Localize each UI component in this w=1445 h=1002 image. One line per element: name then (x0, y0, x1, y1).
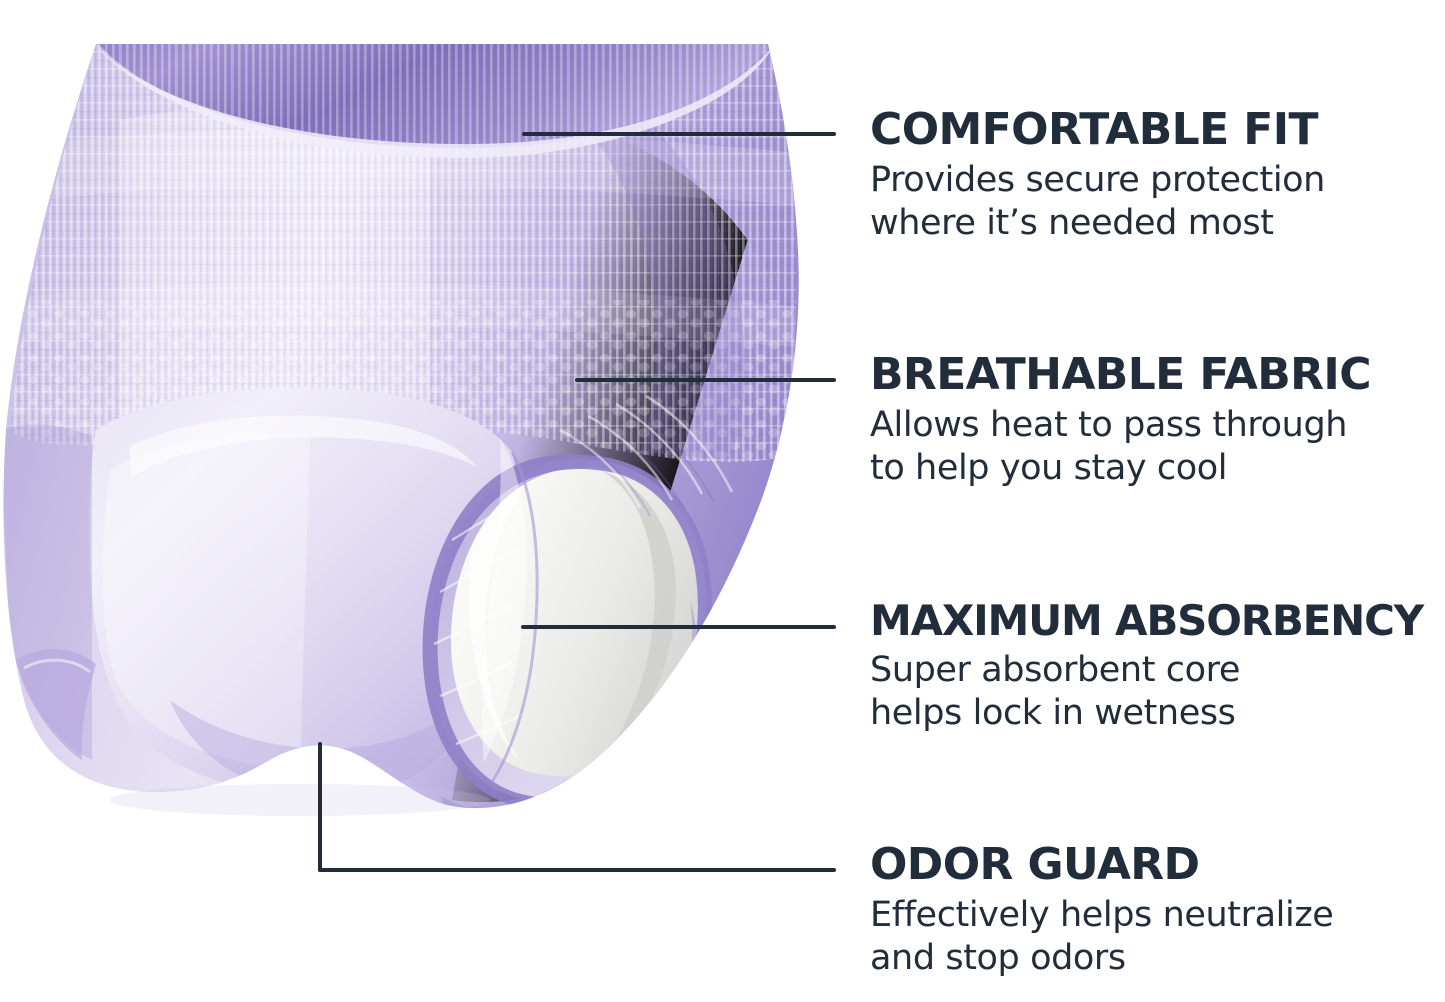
leader-line-odor-guard-vertical (318, 742, 322, 872)
callout-heading-maximum-absorbency: MAXIMUM ABSORBENCY (870, 599, 1445, 643)
callout-heading-breathable-fabric: BREATHABLE FABRIC (870, 352, 1445, 398)
callout-body-line1: Allows heat to pass through (870, 405, 1347, 445)
callout-odor-guard: ODOR GUARD Effectively helps neutralize … (870, 842, 1445, 981)
callout-body-line2: helps lock in wetness (870, 693, 1236, 733)
callout-body-breathable-fabric: Allows heat to pass through to help you … (870, 404, 1445, 491)
callout-body-line1: Super absorbent core (870, 650, 1240, 690)
callout-breathable-fabric: BREATHABLE FABRIC Allows heat to pass th… (870, 352, 1445, 491)
callout-body-line1: Provides secure protection (870, 160, 1325, 200)
leader-line-comfortable-fit (522, 132, 836, 136)
callout-body-maximum-absorbency: Super absorbent core helps lock in wetne… (870, 649, 1445, 736)
leader-line-breathable-fabric (575, 378, 836, 382)
callout-comfortable-fit: COMFORTABLE FIT Provides secure protecti… (870, 107, 1445, 246)
callout-body-line2: to help you stay cool (870, 448, 1227, 488)
callout-heading-comfortable-fit: COMFORTABLE FIT (870, 107, 1445, 153)
callout-maximum-absorbency: MAXIMUM ABSORBENCY Super absorbent core … (870, 599, 1445, 735)
callout-body-comfortable-fit: Provides secure protection where it’s ne… (870, 159, 1445, 246)
callout-body-line2: and stop odors (870, 938, 1126, 978)
leader-line-maximum-absorbency (521, 625, 836, 629)
infographic-canvas: COMFORTABLE FIT Provides secure protecti… (0, 0, 1445, 1002)
callout-body-odor-guard: Effectively helps neutralize and stop od… (870, 894, 1445, 981)
callout-body-line2: where it’s needed most (870, 203, 1274, 243)
leader-line-odor-guard-horizontal (318, 868, 836, 872)
callout-heading-odor-guard: ODOR GUARD (870, 842, 1445, 888)
callout-body-line1: Effectively helps neutralize (870, 895, 1333, 935)
